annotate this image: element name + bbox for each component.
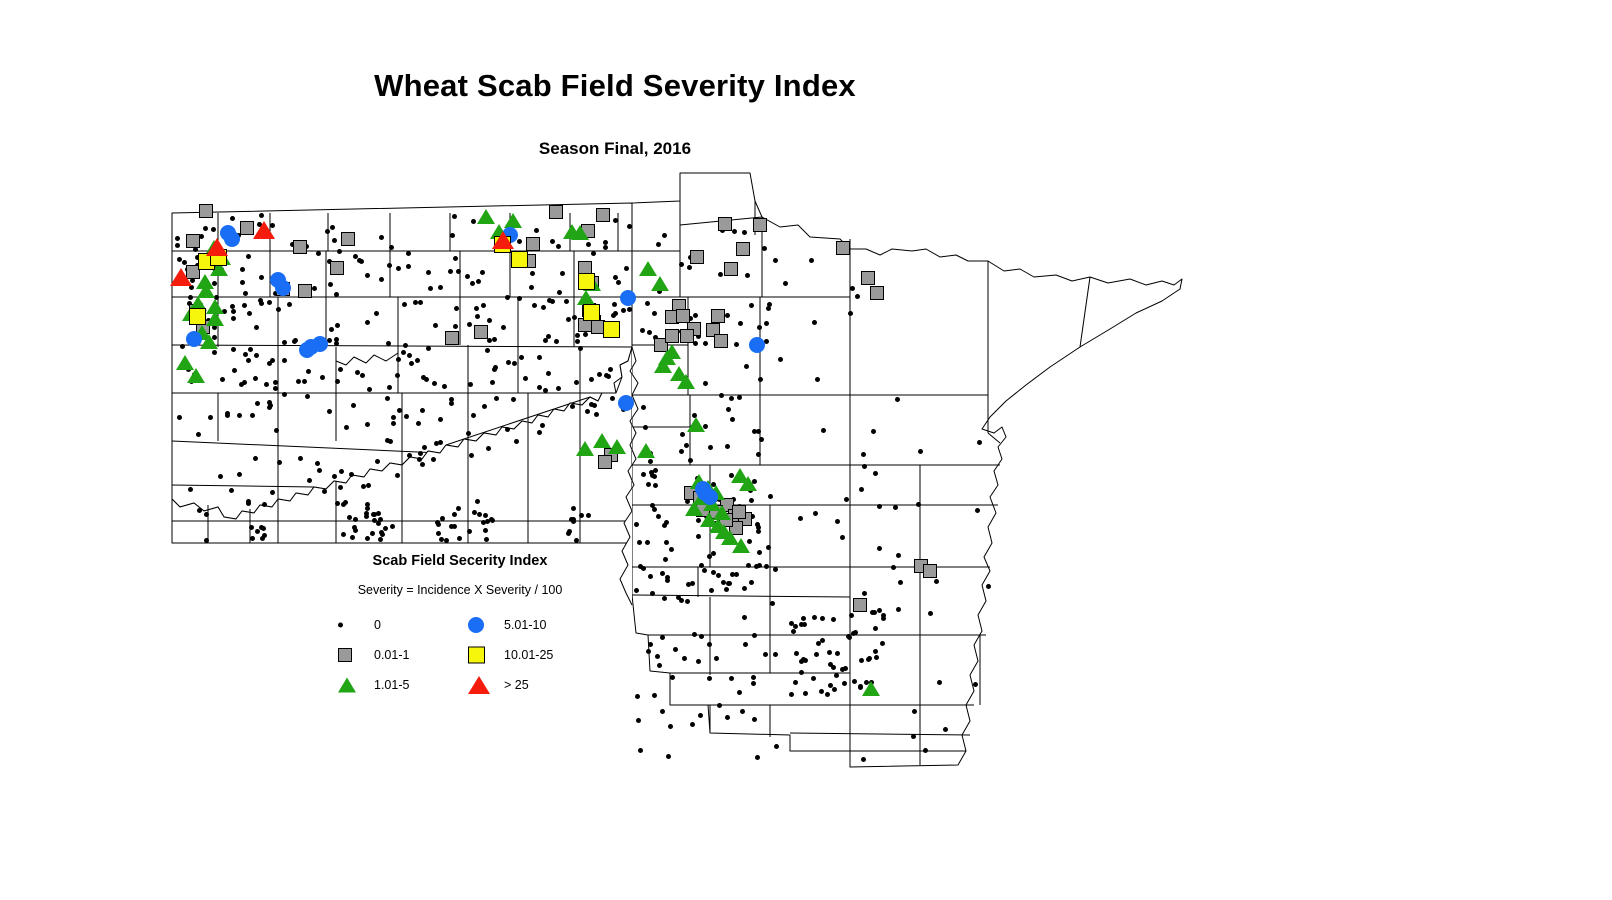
severity-point-zero <box>650 473 655 478</box>
severity-point-zero <box>338 485 343 490</box>
severity-point-zero <box>751 675 756 680</box>
severity-point-zero <box>344 425 349 430</box>
severity-point-zero <box>793 680 798 685</box>
severity-point-zero <box>696 534 701 539</box>
severity-point-zero <box>603 240 608 245</box>
severity-point-1.01-5 <box>576 441 594 456</box>
severity-point-zero <box>702 568 707 573</box>
severity-point-5.01-10 <box>620 290 636 306</box>
severity-point-zero <box>355 370 360 375</box>
severity-point-zero <box>232 368 237 373</box>
severity-point-10.01-25 <box>511 251 528 268</box>
severity-point-gt-25 <box>253 221 275 239</box>
severity-point-zero <box>767 302 772 307</box>
yellow-square-icon <box>468 647 485 664</box>
red-triangle-icon <box>468 676 490 694</box>
severity-point-zero <box>652 507 657 512</box>
severity-point-1.01-5 <box>637 443 655 458</box>
severity-point-zero <box>850 286 855 291</box>
severity-point-0.01-1 <box>736 242 750 256</box>
severity-point-zero <box>537 385 542 390</box>
severity-point-zero <box>809 258 814 263</box>
severity-point-zero <box>486 446 491 451</box>
severity-point-zero <box>911 734 916 739</box>
severity-point-zero <box>332 474 337 479</box>
severity-point-zero <box>490 518 495 523</box>
severity-point-zero <box>640 328 645 333</box>
severity-point-zero <box>726 581 731 586</box>
severity-point-zero <box>439 537 444 542</box>
severity-point-zero <box>276 307 281 312</box>
severity-point-zero <box>799 670 804 675</box>
severity-point-zero <box>571 506 576 511</box>
severity-point-0.01-1 <box>199 204 213 218</box>
severity-point-zero <box>789 692 794 697</box>
severity-point-zero <box>751 681 756 686</box>
severity-point-zero <box>749 303 754 308</box>
severity-point-zero <box>259 525 264 530</box>
severity-point-zero <box>517 296 522 301</box>
map-canvas[interactable] <box>150 165 1190 785</box>
severity-point-zero <box>438 417 443 422</box>
severity-point-zero <box>395 373 400 378</box>
page-subtitle: Season Final, 2016 <box>0 139 1230 159</box>
severity-point-zero <box>725 444 730 449</box>
severity-point-zero <box>825 692 830 697</box>
gray-square-icon <box>338 648 352 662</box>
severity-point-zero <box>707 676 712 681</box>
severity-point-zero <box>881 613 886 618</box>
severity-point-zero <box>862 591 867 596</box>
severity-point-zero <box>730 417 735 422</box>
severity-point-zero <box>274 428 279 433</box>
severity-point-1.01-5 <box>677 374 695 389</box>
severity-point-zero <box>180 344 185 349</box>
severity-point-zero <box>428 286 433 291</box>
severity-point-zero <box>774 744 779 749</box>
severity-point-zero <box>240 280 245 285</box>
severity-point-zero <box>743 642 748 647</box>
severity-point-zero <box>448 269 453 274</box>
severity-point-zero <box>325 229 330 234</box>
severity-point-1.01-5 <box>651 276 669 291</box>
severity-point-zero <box>329 327 334 332</box>
severity-point-zero <box>197 508 202 513</box>
severity-point-zero <box>246 254 251 259</box>
severity-point-0.01-1 <box>298 284 312 298</box>
severity-point-zero <box>519 355 524 360</box>
severity-point-zero <box>476 279 481 284</box>
severity-point-zero <box>505 427 510 432</box>
severity-point-zero <box>182 260 187 265</box>
severity-point-1.01-5 <box>196 274 214 289</box>
severity-point-zero <box>575 339 580 344</box>
severity-point-gt-25 <box>492 231 514 249</box>
severity-point-zero <box>250 413 255 418</box>
severity-point-0.01-1 <box>711 309 725 323</box>
severity-point-zero <box>404 414 409 419</box>
severity-point-zero <box>764 564 769 569</box>
severity-point-zero <box>895 397 900 402</box>
severity-point-zero <box>724 587 729 592</box>
severity-point-zero <box>211 227 216 232</box>
severity-point-zero <box>912 709 917 714</box>
severity-point-zero <box>378 517 383 522</box>
legend-item-label: 5.01-10 <box>504 618 546 632</box>
severity-point-zero <box>388 439 393 444</box>
severity-point-zero <box>487 318 492 323</box>
severity-point-zero <box>635 694 640 699</box>
severity-point-zero <box>307 478 312 483</box>
severity-point-zero <box>436 531 441 536</box>
severity-point-zero <box>391 421 396 426</box>
severity-point-zero <box>494 396 499 401</box>
severity-point-zero <box>188 487 193 492</box>
severity-point-zero <box>375 459 380 464</box>
severity-point-1.01-5 <box>571 225 589 240</box>
severity-point-zero <box>365 320 370 325</box>
severity-point-zero <box>592 403 597 408</box>
severity-point-zero <box>693 313 698 318</box>
severity-point-zero <box>376 511 381 516</box>
severity-point-zero <box>641 405 646 410</box>
severity-point-zero <box>407 453 412 458</box>
severity-point-0.01-1 <box>690 250 704 264</box>
severity-point-zero <box>578 346 583 351</box>
severity-point-zero <box>768 494 773 499</box>
severity-point-0.01-1 <box>240 221 254 235</box>
severity-point-zero <box>372 518 377 523</box>
severity-point-zero <box>662 523 667 528</box>
severity-point-zero <box>641 472 646 477</box>
severity-point-zero <box>341 532 346 537</box>
severity-point-zero <box>466 431 471 436</box>
severity-point-1.01-5 <box>200 334 218 349</box>
severity-point-1.01-5 <box>687 417 705 432</box>
severity-point-zero <box>334 337 339 342</box>
severity-point-zero <box>475 314 480 319</box>
severity-point-zero <box>353 517 358 522</box>
severity-point-zero <box>557 290 562 295</box>
severity-point-zero <box>402 302 407 307</box>
severity-point-0.01-1 <box>445 331 459 345</box>
severity-point-10.01-25 <box>583 304 600 321</box>
severity-point-zero <box>253 376 258 381</box>
severity-point-zero <box>725 715 730 720</box>
severity-point-1.01-5 <box>700 512 718 527</box>
severity-point-zero <box>512 361 517 366</box>
severity-point-zero <box>820 616 825 621</box>
severity-point-zero <box>469 453 474 458</box>
severity-point-zero <box>648 642 653 647</box>
severity-point-zero <box>752 633 757 638</box>
severity-point-zero <box>267 405 272 410</box>
legend-item-blue-circle: 5.01-10 <box>460 611 590 639</box>
severity-point-zero <box>282 358 287 363</box>
severity-point-zero <box>657 663 662 668</box>
severity-point-zero <box>872 610 877 615</box>
severity-point-zero <box>328 282 333 287</box>
severity-point-zero <box>684 443 689 448</box>
severity-point-zero <box>477 512 482 517</box>
severity-point-zero <box>844 497 849 502</box>
severity-point-zero <box>421 375 426 380</box>
severity-point-zero <box>229 488 234 493</box>
severity-point-1.01-5 <box>187 368 205 383</box>
severity-point-0.01-1 <box>714 334 728 348</box>
severity-point-5.01-10 <box>312 336 328 352</box>
severity-point-1.01-5 <box>658 350 676 365</box>
severity-point-zero <box>835 519 840 524</box>
legend-item-small-black-dot: 0 <box>330 611 460 639</box>
legend-item-gray-square: 0.01-1 <box>330 641 460 669</box>
severity-point-zero <box>840 535 845 540</box>
severity-point-0.01-1 <box>186 234 200 248</box>
severity-point-zero <box>975 508 980 513</box>
severity-point-zero <box>335 501 340 506</box>
severity-point-zero <box>613 275 618 280</box>
small-black-dot-icon <box>338 623 343 628</box>
severity-point-zero <box>977 440 982 445</box>
severity-point-zero <box>650 503 655 508</box>
county-polygons <box>172 173 1182 767</box>
severity-point-zero <box>703 341 708 346</box>
severity-point-zero <box>449 397 454 402</box>
severity-point-zero <box>511 397 516 402</box>
severity-point-zero <box>650 591 655 596</box>
severity-point-zero <box>613 218 618 223</box>
severity-point-zero <box>293 338 298 343</box>
severity-point-1.01-5 <box>862 681 880 696</box>
severity-point-zero <box>762 246 767 251</box>
severity-point-zero <box>812 320 817 325</box>
severity-point-zero <box>873 471 878 476</box>
severity-point-zero <box>799 622 804 627</box>
severity-point-zero <box>726 407 731 412</box>
severity-point-zero <box>415 358 420 363</box>
green-triangle-icon <box>338 678 356 693</box>
severity-point-zero <box>597 372 602 377</box>
severity-point-zero <box>386 341 391 346</box>
severity-point-zero <box>877 546 882 551</box>
legend-formula: Severity = Incidence X Severity / 100 <box>328 583 592 597</box>
severity-point-zero <box>849 613 854 618</box>
severity-point-zero <box>237 472 242 477</box>
severity-point-zero <box>877 504 882 509</box>
severity-point-zero <box>648 574 653 579</box>
severity-point-zero <box>645 301 650 306</box>
severity-point-zero <box>374 311 379 316</box>
severity-point-zero <box>874 655 879 660</box>
severity-point-zero <box>338 367 343 372</box>
severity-point-zero <box>277 460 282 465</box>
severity-point-zero <box>212 325 217 330</box>
severity-point-zero <box>591 251 596 256</box>
severity-point-zero <box>662 596 667 601</box>
severity-point-0.01-1 <box>526 237 540 251</box>
severity-point-zero <box>603 245 608 250</box>
severity-point-zero <box>711 570 716 575</box>
severity-point-zero <box>643 425 648 430</box>
severity-point-5.01-10 <box>186 331 202 347</box>
legend-item-label: 0.01-1 <box>374 648 409 662</box>
legend-item-yellow-square: 10.01-25 <box>460 641 590 669</box>
severity-point-zero <box>711 551 716 556</box>
severity-point-0.01-1 <box>853 598 867 612</box>
severity-point-zero <box>250 536 255 541</box>
severity-point-zero <box>407 353 412 358</box>
severity-point-zero <box>243 291 248 296</box>
severity-point-0.01-1 <box>870 286 884 300</box>
severity-point-1.01-5 <box>639 261 657 276</box>
severity-point-zero <box>861 757 866 762</box>
severity-point-zero <box>755 755 760 760</box>
severity-point-zero <box>220 377 225 382</box>
severity-point-zero <box>756 452 761 457</box>
severity-point-zero <box>387 385 392 390</box>
severity-point-zero <box>564 299 569 304</box>
severity-point-zero <box>652 311 657 316</box>
map-page: Wheat Scab Field Severity Index Season F… <box>0 0 1612 900</box>
severity-point-zero <box>471 219 476 224</box>
severity-point-zero <box>663 557 668 562</box>
severity-point-zero <box>253 456 258 461</box>
severity-point-zero <box>709 588 714 593</box>
severity-point-0.01-1 <box>732 505 746 519</box>
legend-item-label: 1.01-5 <box>374 678 409 692</box>
severity-point-gt-25 <box>206 238 228 256</box>
severity-point-zero <box>852 679 857 684</box>
severity-point-zero <box>604 373 609 378</box>
severity-point-zero <box>803 691 808 696</box>
severity-point-1.01-5 <box>739 476 757 491</box>
severity-point-zero <box>506 360 511 365</box>
severity-point-zero <box>773 258 778 263</box>
severity-point-zero <box>928 611 933 616</box>
severity-point-zero <box>848 311 853 316</box>
severity-point-gt-25 <box>170 268 192 286</box>
severity-point-zero <box>866 657 871 662</box>
severity-point-zero <box>621 308 626 313</box>
severity-point-zero <box>752 429 757 434</box>
severity-point-zero <box>686 582 691 587</box>
severity-point-1.01-5 <box>577 290 595 305</box>
severity-point-zero <box>627 307 632 312</box>
severity-point-0.01-1 <box>724 262 738 276</box>
severity-point-zero <box>230 216 235 221</box>
severity-point-zero <box>471 413 476 418</box>
severity-point-1.01-5 <box>608 439 626 454</box>
severity-point-zero <box>896 553 901 558</box>
severity-point-zero <box>877 608 882 613</box>
severity-point-zero <box>431 457 436 462</box>
severity-point-zero <box>420 462 425 467</box>
legend-item-red-triangle: > 25 <box>460 671 590 699</box>
severity-point-zero <box>627 224 632 229</box>
severity-point-zero <box>442 384 447 389</box>
severity-point-0.01-1 <box>861 271 875 285</box>
severity-point-zero <box>660 709 665 714</box>
severity-point-zero <box>270 358 275 363</box>
severity-point-zero <box>842 681 847 686</box>
severity-point-zero <box>567 529 572 534</box>
severity-point-0.01-1 <box>680 329 694 343</box>
severity-point-zero <box>589 377 594 382</box>
severity-point-zero <box>801 657 806 662</box>
severity-point-zero <box>417 457 422 462</box>
severity-point-zero <box>501 325 506 330</box>
severity-point-zero <box>453 324 458 329</box>
severity-point-zero <box>359 259 364 264</box>
severity-point-zero <box>396 357 401 362</box>
severity-point-zero <box>365 502 370 507</box>
severity-point-zero <box>467 529 472 534</box>
severity-point-5.01-10 <box>618 395 634 411</box>
severity-point-zero <box>934 579 939 584</box>
severity-point-zero <box>669 547 674 552</box>
severity-point-zero <box>585 409 590 414</box>
severity-point-zero <box>742 615 747 620</box>
severity-point-zero <box>452 524 457 529</box>
severity-point-zero <box>470 281 475 286</box>
severity-point-zero <box>396 266 401 271</box>
severity-point-zero <box>465 274 470 279</box>
severity-point-zero <box>540 423 545 428</box>
severity-point-0.01-1 <box>549 205 563 219</box>
severity-point-0.01-1 <box>341 232 355 246</box>
severity-point-0.01-1 <box>665 329 679 343</box>
severity-point-zero <box>175 243 180 248</box>
severity-point-5.01-10 <box>749 337 765 353</box>
severity-point-zero <box>457 536 462 541</box>
severity-point-zero <box>749 498 754 503</box>
page-title: Wheat Scab Field Severity Index <box>0 68 1230 104</box>
severity-point-zero <box>690 722 695 727</box>
severity-point-zero <box>353 528 358 533</box>
severity-point-zero <box>523 376 528 381</box>
severity-point-zero <box>692 632 697 637</box>
severity-point-0.01-1 <box>596 208 610 222</box>
legend-item-green-triangle: 1.01-5 <box>330 671 460 699</box>
severity-point-zero <box>383 526 388 531</box>
severity-point-zero <box>673 647 678 652</box>
severity-point-zero <box>843 666 848 671</box>
legend-title: Scab Field Secerity Index <box>330 553 590 569</box>
legend-item-label: > 25 <box>504 678 529 692</box>
severity-point-zero <box>721 580 726 585</box>
severity-point-zero <box>483 513 488 518</box>
map-legend: Scab Field Secerity Index Severity = Inc… <box>330 553 590 705</box>
state-county-map <box>150 165 1190 785</box>
legend-item-label: 10.01-25 <box>504 648 553 662</box>
severity-point-zero <box>406 264 411 269</box>
severity-point-zero <box>646 482 651 487</box>
severity-point-10.01-25 <box>578 273 595 290</box>
severity-point-zero <box>418 451 423 456</box>
severity-point-0.01-1 <box>753 218 767 232</box>
severity-point-zero <box>873 626 878 631</box>
severity-point-zero <box>645 540 650 545</box>
severity-point-0.01-1 <box>718 217 732 231</box>
severity-point-zero <box>745 273 750 278</box>
severity-point-zero <box>814 652 819 657</box>
severity-point-0.01-1 <box>330 261 344 275</box>
legend-item-label: 0 <box>374 618 381 632</box>
severity-point-zero <box>862 464 867 469</box>
severity-point-0.01-1 <box>598 455 612 469</box>
severity-point-zero <box>819 689 824 694</box>
severity-point-zero <box>259 275 264 280</box>
